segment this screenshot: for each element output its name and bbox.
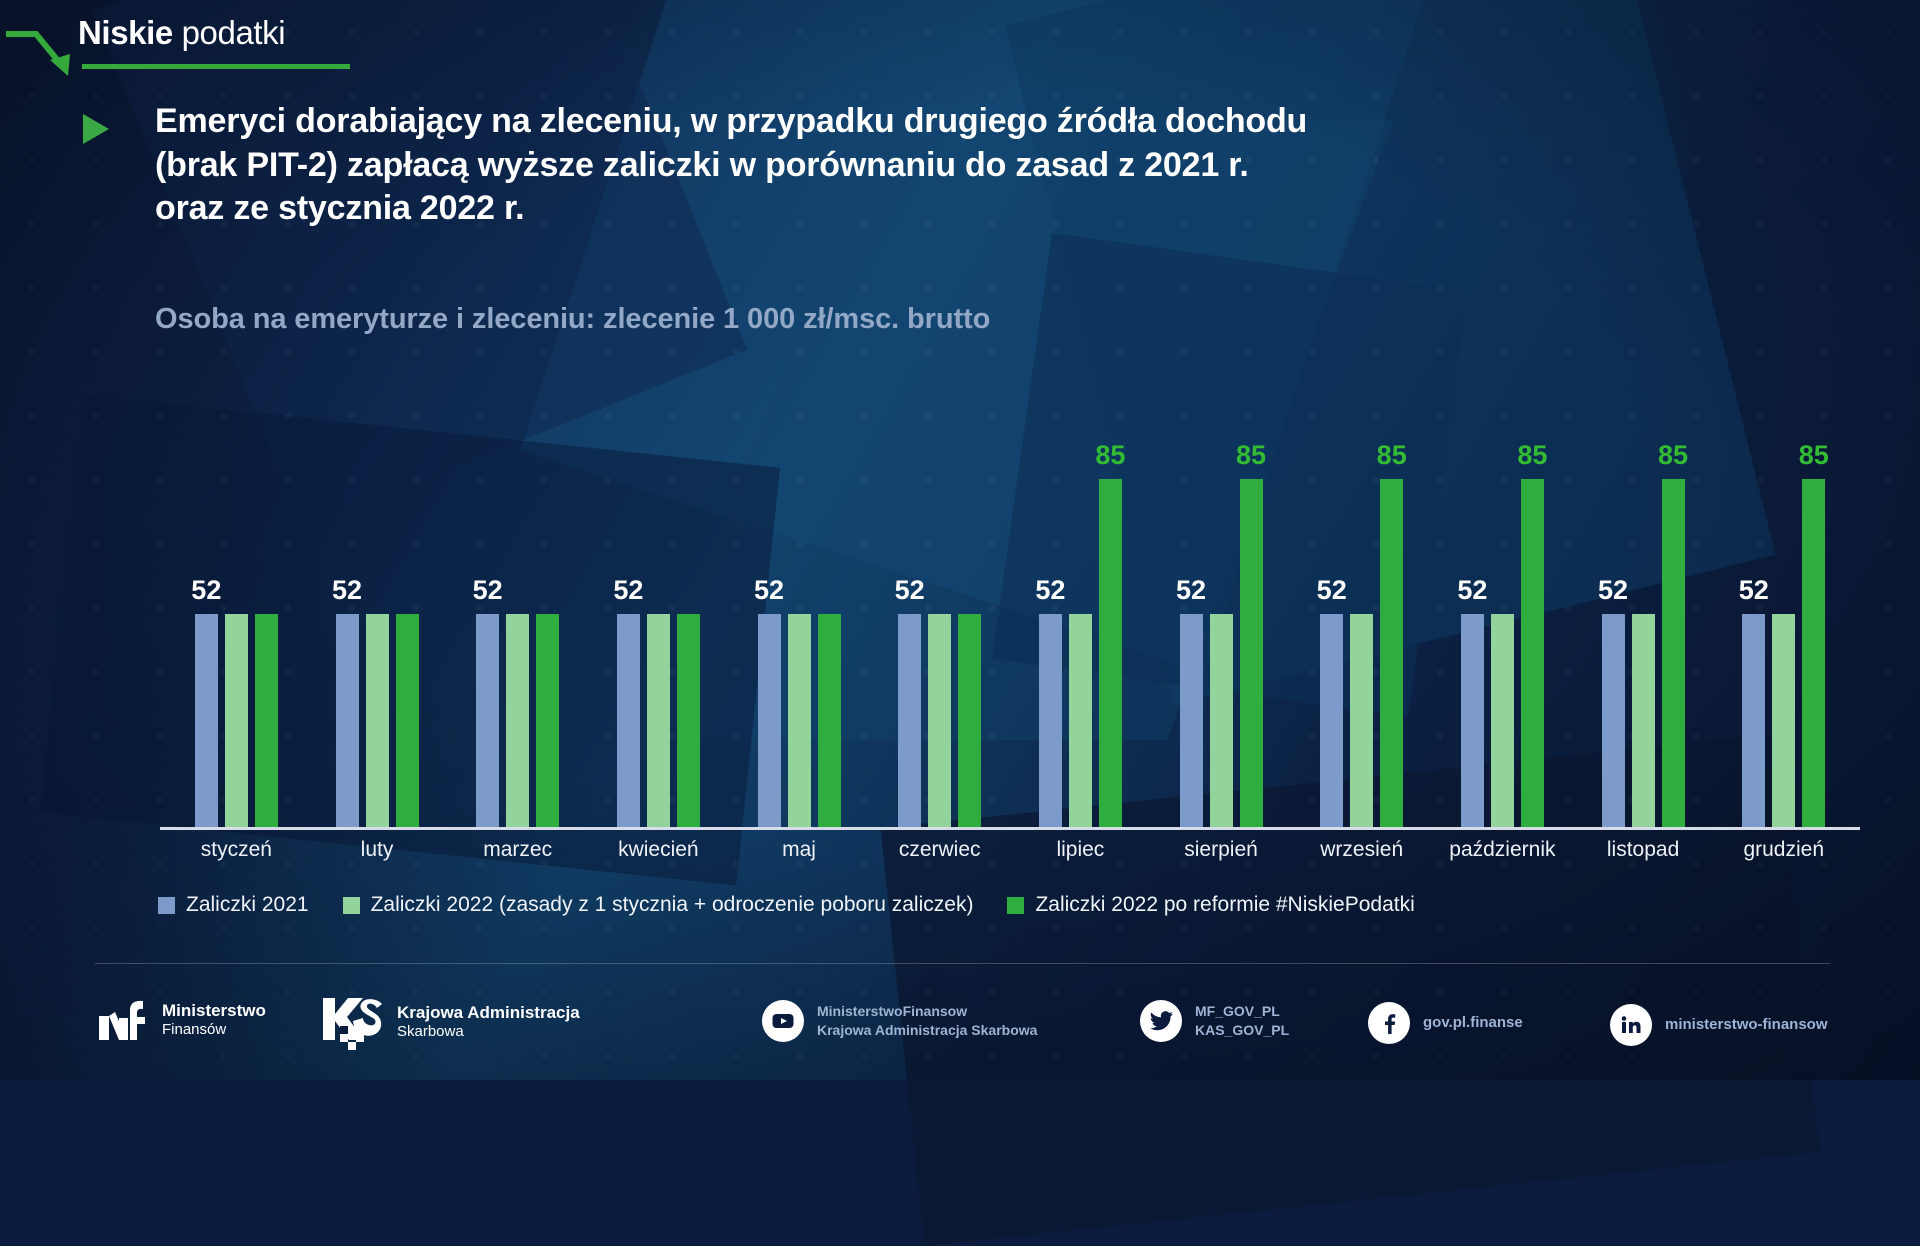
x-axis-label: czerwiec [869,838,1010,862]
x-axis-label: kwiecień [588,838,729,862]
green-triangle-icon [79,112,113,146]
headline-line-1: Emeryci dorabiający na zleceniu, w przyp… [155,100,1505,144]
bar-value-label: 52 [754,575,784,606]
bar-column [788,360,811,827]
bar [1320,614,1343,827]
kas-logo-icon [320,994,384,1050]
bar [255,614,278,827]
headline-line-2: (brak PIT-2) zapłacą wyższe zaliczki w p… [155,144,1505,188]
bar-column [225,360,248,827]
youtube-line-2: Krajowa Administracja Skarbowa [817,1021,1037,1040]
bar-column [1772,360,1795,827]
bar-value-label: 52 [1739,575,1769,606]
facebook-icon [1368,1002,1410,1044]
bar-group: 52 [447,360,588,827]
bar-column: 85 [1521,360,1544,827]
ministry-line-1: Ministerstwo [162,1001,266,1021]
linkedin-handle: ministerstwo-finansow [1665,1015,1828,1035]
legend-swatch [158,897,175,914]
bar [928,614,951,827]
bar [476,614,499,827]
youtube-line-1: MinisterstwoFinansow [817,1002,1037,1021]
bar [1380,479,1403,828]
footer-divider [95,963,1830,964]
legend-label: Zaliczki 2022 po reformie #NiskiePodatki [1035,893,1414,917]
bar-column [1210,360,1233,827]
bar-column: 85 [1380,360,1403,827]
bar-group: 5285 [1713,360,1854,827]
legend-item[interactable]: Zaliczki 2022 (zasady z 1 stycznia + odr… [343,893,974,917]
x-axis-label: wrzesień [1291,838,1432,862]
bar-value-label: 85 [1799,440,1829,471]
bar-column [366,360,389,827]
bar [617,614,640,827]
brand-logo: Niskie podatki [78,14,285,52]
bar-group: 5285 [1432,360,1573,827]
footer-kas: Krajowa Administracja Skarbowa [320,994,580,1050]
ministry-line-2: Finansów [162,1021,266,1039]
bar-column [536,360,559,827]
bar-value-label: 52 [473,575,503,606]
bar-column: 52 [1742,360,1765,827]
bar-value-label: 52 [191,575,221,606]
bar-column [1491,360,1514,827]
bar [225,614,248,827]
headline-block: Emeryci dorabiający na zleceniu, w przyp… [155,100,1505,231]
bar [958,614,981,827]
chart-x-axis-labels: styczeńlutymarzeckwiecieńmajczerwieclipi… [160,838,1860,862]
bar [1742,614,1765,827]
bar-value-label: 85 [1236,440,1266,471]
bar [1180,614,1203,827]
x-axis-label: listopad [1573,838,1714,862]
chart-plot-area: 525252525252528552855285528552855285 [160,360,1860,830]
bar-value-label: 52 [1317,575,1347,606]
x-axis-label: grudzień [1713,838,1854,862]
bar-column [1350,360,1373,827]
legend-swatch [343,897,360,914]
bar-column [506,360,529,827]
bar [195,614,218,827]
twitter-line-2: KAS_GOV_PL [1195,1021,1289,1040]
green-arrow-icon [6,30,86,82]
twitter-icon [1140,1000,1182,1042]
bar-value-label: 52 [1457,575,1487,606]
bar-column: 52 [758,360,781,827]
bar-value-label: 85 [1095,440,1125,471]
bar-value-label: 52 [1176,575,1206,606]
chart-subtitle: Osoba na emeryturze i zleceniu: zlecenie… [155,303,990,336]
x-axis-label: styczeń [166,838,307,862]
logo-text-light: podatki [173,14,285,51]
bar-value-label: 85 [1517,440,1547,471]
bar [1099,479,1122,828]
facebook-line-1: gov.pl.finanse [1423,1013,1523,1033]
bar [758,614,781,827]
bar-column [255,360,278,827]
bar [1802,479,1825,828]
bar [506,614,529,827]
bar [677,614,700,827]
youtube-handle: MinisterstwoFinansow Krajowa Administrac… [817,1002,1037,1040]
bar-value-label: 85 [1377,440,1407,471]
bar-chart: 525252525252528552855285528552855285 [160,360,1860,830]
bar-value-label: 85 [1658,440,1688,471]
footer-social-youtube[interactable]: MinisterstwoFinansow Krajowa Administrac… [762,1000,1037,1042]
legend-swatch [1007,897,1024,914]
bar-column: 52 [1039,360,1062,827]
bar-value-label: 52 [895,575,925,606]
x-axis-label: sierpień [1151,838,1292,862]
kas-line-1: Krajowa Administracja [397,1003,580,1023]
bar-column: 85 [1240,360,1263,827]
bar-column [677,360,700,827]
bar [336,614,359,827]
bar [1210,614,1233,827]
bar-value-label: 52 [613,575,643,606]
footer-social-facebook[interactable]: gov.pl.finanse [1368,1002,1523,1044]
x-axis-label: luty [307,838,448,862]
bar-column: 52 [1180,360,1203,827]
logo-text-bold: Niskie [78,14,173,51]
bar-column [958,360,981,827]
bar-column: 85 [1662,360,1685,827]
legend-label: Zaliczki 2022 (zasady z 1 stycznia + odr… [371,893,974,917]
bar-group: 52 [729,360,870,827]
bar [536,614,559,827]
footer-ministry-finansow: Ministerstwo Finansów [97,998,266,1042]
twitter-handle: MF_GOV_PL KAS_GOV_PL [1195,1002,1289,1040]
bar-group: 52 [588,360,729,827]
bar-column: 52 [1461,360,1484,827]
bar [1491,614,1514,827]
bar [396,614,419,827]
bar-column: 52 [336,360,359,827]
chart-bar-groups: 525252525252528552855285528552855285 [160,360,1860,827]
bar-column [818,360,841,827]
bar-group: 5285 [1010,360,1151,827]
bar-group: 5285 [1151,360,1292,827]
linkedin-line-1: ministerstwo-finansow [1665,1015,1828,1035]
bar-group: 5285 [1291,360,1432,827]
footer: Ministerstwo Finansów Krajowa Administra… [0,990,1920,1060]
bar [1069,614,1092,827]
x-axis-label: lipiec [1010,838,1151,862]
facebook-handle: gov.pl.finanse [1423,1013,1523,1033]
bar [1461,614,1484,827]
bar-column: 85 [1802,360,1825,827]
bar-group: 52 [166,360,307,827]
headline-line-3: oraz ze stycznia 2022 r. [155,187,1505,231]
bar-column: 52 [617,360,640,827]
bar-column: 52 [898,360,921,827]
bar [788,614,811,827]
bar [818,614,841,827]
bar [1602,614,1625,827]
bar-value-label: 52 [1598,575,1628,606]
chart-legend: Zaliczki 2021Zaliczki 2022 (zasady z 1 s… [158,893,1415,917]
bar-value-label: 52 [332,575,362,606]
bar-group: 52 [869,360,1010,827]
bar [1240,479,1263,828]
bar [1662,479,1685,828]
bar [1632,614,1655,827]
bar-column [1632,360,1655,827]
chart-x-axis-line [160,827,1860,830]
bar [1350,614,1373,827]
legend-item[interactable]: Zaliczki 2022 po reformie #NiskiePodatki [1007,893,1414,917]
mf-logo-icon [97,998,149,1042]
x-axis-label: marzec [447,838,588,862]
legend-label: Zaliczki 2021 [186,893,309,917]
bar-column: 85 [1099,360,1122,827]
footer-social-linkedin[interactable]: ministerstwo-finansow [1610,1004,1828,1046]
x-axis-label: październik [1432,838,1573,862]
linkedin-icon [1610,1004,1652,1046]
youtube-icon [762,1000,804,1042]
bar-column: 52 [1320,360,1343,827]
bar [647,614,670,827]
bar-group: 52 [307,360,448,827]
kas-label: Krajowa Administracja Skarbowa [397,1003,580,1041]
bar [1039,614,1062,827]
logo-underline [82,64,350,69]
bar-group: 5285 [1573,360,1714,827]
bar-column [928,360,951,827]
bar-column: 52 [476,360,499,827]
bar-column [1069,360,1092,827]
bar [366,614,389,827]
bar-column: 52 [195,360,218,827]
bar-value-label: 52 [1035,575,1065,606]
bar [1772,614,1795,827]
kas-line-2: Skarbowa [397,1023,580,1041]
legend-item[interactable]: Zaliczki 2021 [158,893,309,917]
bar-column [647,360,670,827]
ministry-label: Ministerstwo Finansów [162,1001,266,1039]
footer-social-twitter[interactable]: MF_GOV_PL KAS_GOV_PL [1140,1000,1289,1042]
twitter-line-1: MF_GOV_PL [1195,1002,1289,1021]
bar [898,614,921,827]
x-axis-label: maj [729,838,870,862]
bar-column: 52 [1602,360,1625,827]
logo-text: Niskie podatki [78,14,285,52]
bar [1521,479,1544,828]
bar-column [396,360,419,827]
